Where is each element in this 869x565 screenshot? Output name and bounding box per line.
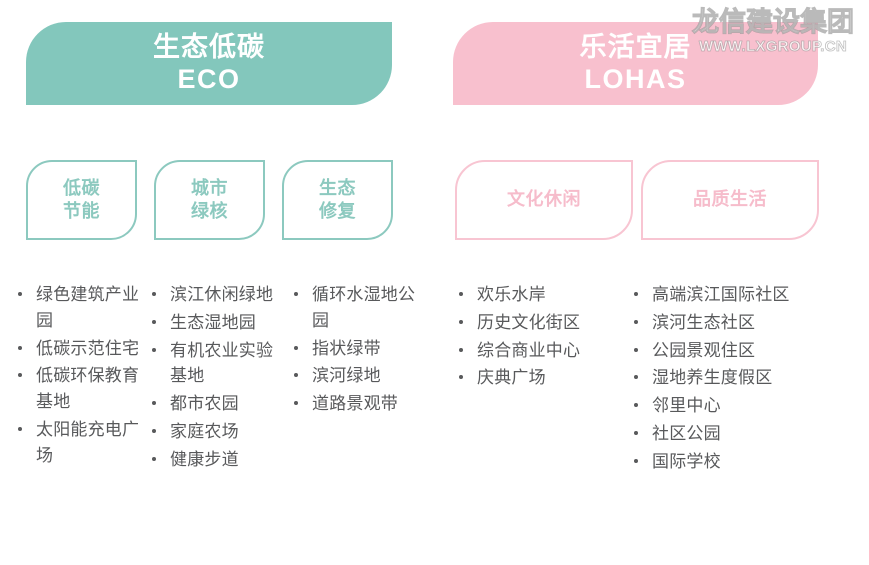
bullet-dot-icon [18,427,22,431]
bullet-dot-icon [634,320,638,324]
list-item: 邻里中心 [630,393,820,419]
pill-low-carbon-energy-saving[interactable]: 低碳 节能 [26,160,137,240]
bullet-dot-icon [459,375,463,379]
list-item-label: 有机农业实验基地 [170,341,273,386]
list-item-label: 滨河生态社区 [652,313,755,332]
list-item-label: 欢乐水岸 [477,285,546,304]
banner-lohas: 乐活宜居 LOHAS [453,22,818,105]
list-item: 绿色建筑产业园 [14,282,146,334]
list-item-label: 高端滨江国际社区 [652,285,790,304]
bullet-dot-icon [294,292,298,296]
bullet-dot-icon [152,320,156,324]
banner-eco: 生态低碳 ECO [26,22,392,105]
list-item: 公园景观住区 [630,338,820,364]
list-item: 历史文化街区 [455,310,625,336]
list-item-label: 国际学校 [652,452,721,471]
list-column-4: 欢乐水岸历史文化街区综合商业中心庆典广场 [455,282,625,393]
list-item-label: 家庭农场 [170,422,239,441]
list-item-label: 健康步道 [170,450,239,469]
list-item: 庆典广场 [455,365,625,391]
list-item-label: 都市农园 [170,394,239,413]
bullet-dot-icon [634,459,638,463]
bullet-dot-icon [634,292,638,296]
bullet-dot-icon [459,320,463,324]
pill-label: 品质生活 [693,188,767,211]
pill-line-2: 节能 [63,201,100,221]
banner-eco-title-en: ECO [177,64,240,95]
list-item-label: 历史文化街区 [477,313,580,332]
list-item-label: 绿色建筑产业园 [36,285,139,330]
bullet-dot-icon [152,401,156,405]
bullet-dot-icon [634,431,638,435]
bullet-dot-icon [152,429,156,433]
bullet-dot-icon [459,292,463,296]
list-item-label: 公园景观住区 [652,341,755,360]
list-item: 综合商业中心 [455,338,625,364]
list-item-label: 太阳能充电广场 [36,420,139,465]
list-item: 道路景观带 [290,391,425,417]
list-item: 滨河生态社区 [630,310,820,336]
bullet-dot-icon [294,346,298,350]
pill-label: 文化休闲 [507,188,581,211]
list-item-label: 低碳示范住宅 [36,339,139,358]
list-item-label: 滨河绿地 [312,366,381,385]
list-column-1: 绿色建筑产业园低碳示范住宅低碳环保教育基地太阳能充电广场 [14,282,146,471]
pill-label: 生态 修复 [319,177,356,223]
list-item-label: 邻里中心 [652,396,721,415]
pill-label: 低碳 节能 [63,177,100,223]
bullet-dot-icon [459,348,463,352]
bullet-list: 绿色建筑产业园低碳示范住宅低碳环保教育基地太阳能充电广场 [14,282,146,469]
bullet-dot-icon [294,401,298,405]
list-item-label: 道路景观带 [312,394,398,413]
list-item-label: 低碳环保教育基地 [36,366,139,411]
list-item-label: 综合商业中心 [477,341,580,360]
pill-label: 城市 绿核 [191,177,228,223]
list-item: 低碳示范住宅 [14,336,146,362]
list-item-label: 指状绿带 [312,339,381,358]
list-item: 滨河绿地 [290,363,425,389]
bullet-dot-icon [152,348,156,352]
list-item: 都市农园 [148,391,280,417]
list-item-label: 循环水湿地公园 [312,285,415,330]
banner-lohas-title-en: LOHAS [585,64,687,95]
banner-lohas-title-cn: 乐活宜居 [580,32,692,63]
bullet-list: 欢乐水岸历史文化街区综合商业中心庆典广场 [455,282,625,391]
pill-line-1: 文化休闲 [507,189,581,209]
list-item: 高端滨江国际社区 [630,282,820,308]
list-item: 滨江休闲绿地 [148,282,280,308]
list-item: 有机农业实验基地 [148,338,280,390]
bullet-list: 高端滨江国际社区滨河生态社区公园景观住区湿地养生度假区邻里中心社区公园国际学校 [630,282,820,475]
banner-eco-title-cn: 生态低碳 [153,32,265,63]
pill-line-2: 绿核 [191,201,228,221]
list-column-5: 高端滨江国际社区滨河生态社区公园景观住区湿地养生度假区邻里中心社区公园国际学校 [630,282,820,477]
list-item: 循环水湿地公园 [290,282,425,334]
list-column-3: 循环水湿地公园指状绿带滨河绿地道路景观带 [290,282,425,419]
list-item: 指状绿带 [290,336,425,362]
list-item: 生态湿地园 [148,310,280,336]
bullet-dot-icon [152,292,156,296]
pill-line-1: 低碳 [63,178,100,198]
list-item: 家庭农场 [148,419,280,445]
pill-urban-green-core[interactable]: 城市 绿核 [154,160,265,240]
bullet-dot-icon [634,348,638,352]
list-column-2: 滨江休闲绿地生态湿地园有机农业实验基地都市农园家庭农场健康步道 [148,282,280,475]
list-item-label: 滨江休闲绿地 [170,285,273,304]
bullet-dot-icon [18,346,22,350]
list-item: 欢乐水岸 [455,282,625,308]
list-item: 太阳能充电广场 [14,417,146,469]
pill-ecological-restoration[interactable]: 生态 修复 [282,160,393,240]
list-item-label: 生态湿地园 [170,313,256,332]
bullet-dot-icon [634,403,638,407]
slide-canvas: 生态低碳 ECO 乐活宜居 LOHAS 龙信建设集团 WWW.LXGROUP.C… [0,0,869,565]
bullet-dot-icon [18,292,22,296]
bullet-list: 循环水湿地公园指状绿带滨河绿地道路景观带 [290,282,425,417]
list-item-label: 庆典广场 [477,368,546,387]
list-item: 社区公园 [630,421,820,447]
bullet-dot-icon [294,373,298,377]
pill-cultural-leisure[interactable]: 文化休闲 [455,160,633,240]
pill-line-2: 修复 [319,201,356,221]
list-item-label: 社区公园 [652,424,721,443]
list-item-label: 湿地养生度假区 [652,368,772,387]
list-item: 健康步道 [148,447,280,473]
list-item: 国际学校 [630,449,820,475]
list-item: 湿地养生度假区 [630,365,820,391]
pill-quality-living[interactable]: 品质生活 [641,160,819,240]
bullet-dot-icon [18,373,22,377]
pill-line-1: 生态 [319,178,356,198]
pill-line-1: 品质生活 [693,189,767,209]
list-item: 低碳环保教育基地 [14,363,146,415]
bullet-list: 滨江休闲绿地生态湿地园有机农业实验基地都市农园家庭农场健康步道 [148,282,280,473]
bullet-dot-icon [152,457,156,461]
pill-line-1: 城市 [191,178,228,198]
bullet-dot-icon [634,375,638,379]
